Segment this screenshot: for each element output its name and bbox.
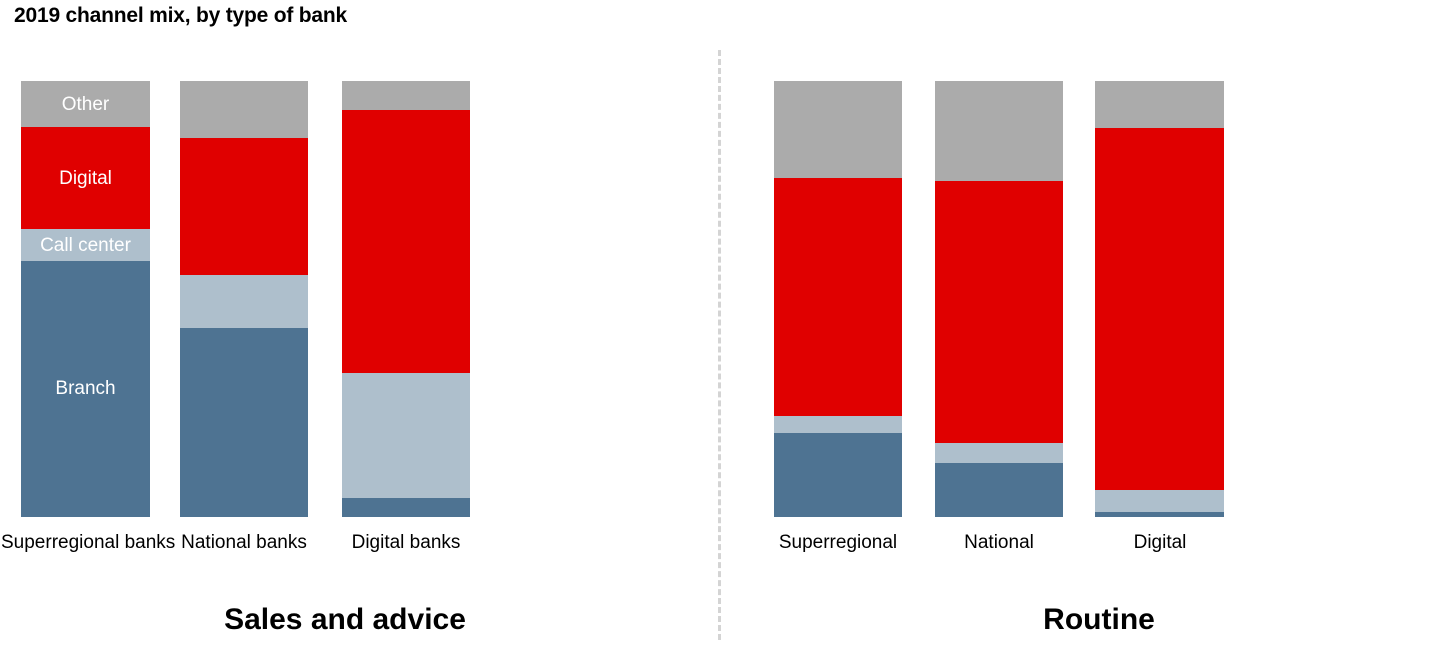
bar-segment-call-center[interactable]	[774, 416, 902, 433]
bar-segment-other[interactable]: Other	[21, 81, 150, 127]
segment-label-digital: Digital	[59, 169, 112, 188]
bar-segment-branch[interactable]	[1095, 512, 1224, 517]
stacked-bar-superregional-banks[interactable]: Other Digital Call center Branch	[21, 81, 150, 517]
chart-title: 2019 channel mix, by type of bank	[14, 4, 347, 28]
segment-label-branch: Branch	[55, 379, 115, 398]
category-label-routine-national: National	[929, 532, 1069, 555]
segment-label-other: Other	[62, 95, 110, 114]
bar-segment-branch[interactable]	[774, 433, 902, 517]
stacked-bar-routine-digital[interactable]	[1095, 81, 1224, 517]
bar-segment-digital[interactable]	[935, 181, 1063, 443]
segment-label-call-center: Call center	[40, 236, 131, 255]
bar-segment-digital[interactable]	[342, 110, 470, 373]
bar-segment-digital[interactable]	[180, 138, 308, 275]
panel-divider	[718, 50, 721, 640]
bar-segment-branch[interactable]	[180, 328, 308, 517]
bar-segment-branch[interactable]	[935, 463, 1063, 517]
panel-title-routine: Routine	[869, 602, 1329, 638]
bar-segment-other[interactable]	[935, 81, 1063, 181]
bar-segment-digital[interactable]	[774, 178, 902, 416]
bar-segment-call-center[interactable]: Call center	[21, 229, 150, 261]
bar-segment-other[interactable]	[342, 81, 470, 110]
bar-segment-other[interactable]	[1095, 81, 1224, 128]
panel-title-sales-and-advice: Sales and advice	[115, 602, 575, 638]
bar-segment-other[interactable]	[774, 81, 902, 178]
bar-segment-call-center[interactable]	[935, 443, 1063, 463]
bar-segment-call-center[interactable]	[1095, 490, 1224, 512]
chart-plot-area: 2019 channel mix, by type of bank Other …	[0, 0, 1440, 659]
bar-segment-branch[interactable]: Branch	[21, 261, 150, 517]
bar-segment-call-center[interactable]	[180, 275, 308, 328]
bar-segment-branch[interactable]	[342, 498, 470, 517]
category-label-national-banks: National banks	[174, 532, 314, 555]
stacked-bar-routine-superregional[interactable]	[774, 81, 902, 517]
stacked-bar-national-banks[interactable]	[180, 81, 308, 517]
category-label-digital-banks: Digital banks	[336, 532, 476, 555]
stacked-bar-routine-national[interactable]	[935, 81, 1063, 517]
bar-segment-digital[interactable]	[1095, 128, 1224, 490]
stacked-bar-digital-banks[interactable]	[342, 81, 470, 517]
category-label-superregional-banks: Superregional banks	[1, 532, 170, 555]
category-label-routine-digital: Digital	[1090, 532, 1230, 555]
bar-segment-other[interactable]	[180, 81, 308, 138]
bar-segment-digital[interactable]: Digital	[21, 127, 150, 229]
category-label-routine-superregional: Superregional	[768, 532, 908, 555]
bar-segment-call-center[interactable]	[342, 373, 470, 498]
